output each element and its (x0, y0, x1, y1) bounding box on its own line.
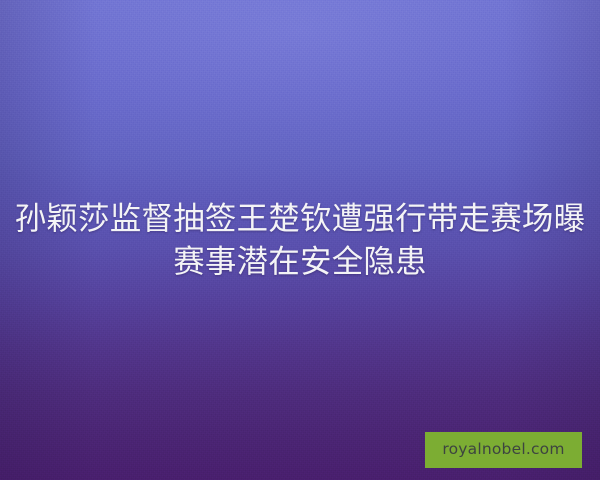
headline-title: 孙颖莎监督抽签王楚钦遭强行带走赛场曝 赛事潜在安全隐患 (0, 198, 600, 284)
cover-image-canvas: 孙颖莎监督抽签王楚钦遭强行带走赛场曝 赛事潜在安全隐患 royalnobel.c… (0, 0, 600, 480)
headline-line-1: 孙颖莎监督抽签王楚钦遭强行带走赛场曝 (14, 198, 586, 241)
watermark-domain-label: royalnobel.com (442, 442, 564, 458)
headline-line-2: 赛事潜在安全隐患 (14, 241, 586, 284)
watermark-badge[interactable]: royalnobel.com (425, 432, 582, 468)
